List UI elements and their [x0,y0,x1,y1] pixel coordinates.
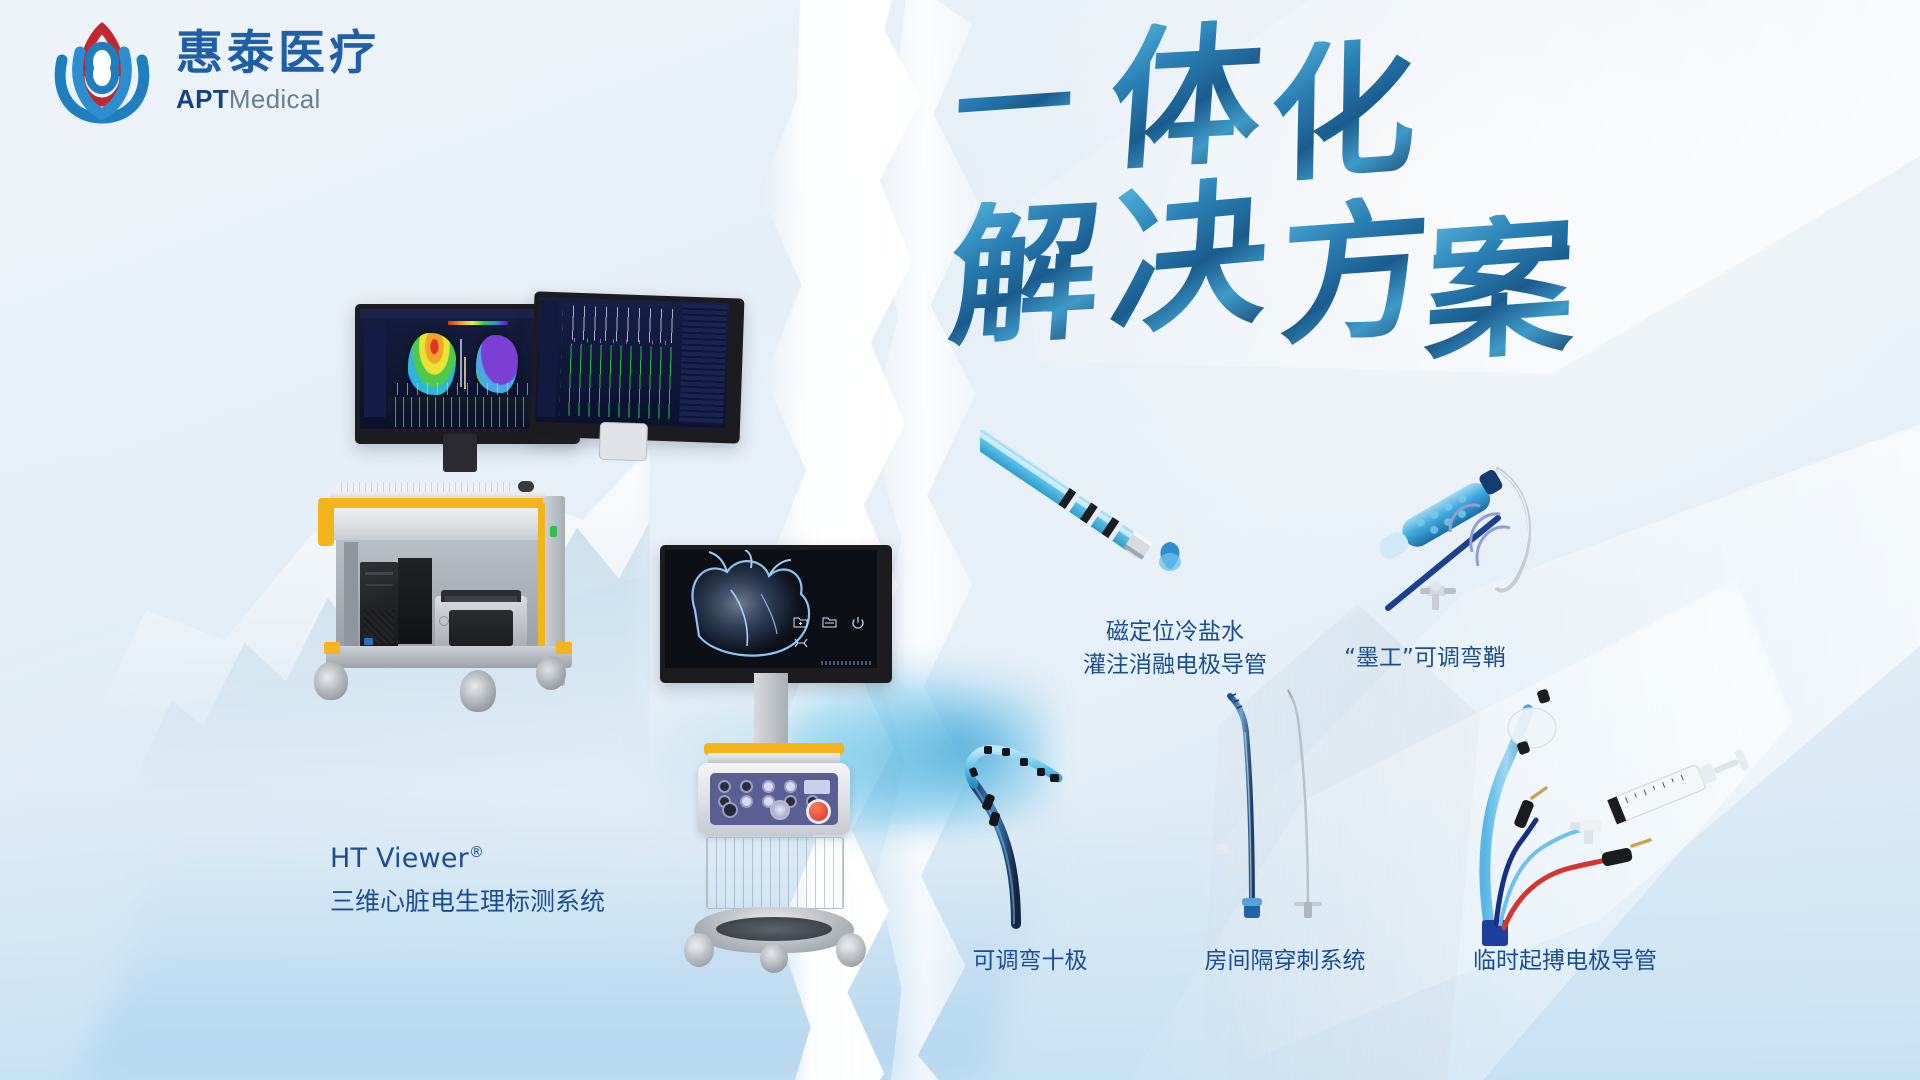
emergency-stop-button[interactable] [809,802,828,821]
patient-interface-console[interactable] [698,763,850,835]
ground-port[interactable] [722,802,738,818]
console-port[interactable] [740,795,753,808]
caster-wheel [836,933,866,967]
caster-wheel [314,662,348,700]
heart-illustration-icon [665,550,877,668]
new-study-icon[interactable] [793,616,808,634]
caster-wheel [460,670,496,712]
product-label-line1: 可调弯十极 [900,945,1160,978]
product-label-line1: 磁定位冷盐水 [1040,616,1310,649]
power-icon[interactable] [851,616,865,635]
left-monitor-stand [443,434,477,472]
caster-wheel [760,943,788,973]
system-name-en: HT Viewer® [330,840,660,878]
headline-char-6: 方 [1278,192,1433,353]
product-label-line1: 房间隔穿刺系统 [1150,945,1420,978]
caster-wheel [684,933,714,967]
right-monitor-arm [599,422,648,462]
headline-char-7: 案 [1423,209,1578,370]
brand-logo-text: 惠泰医疗 APTMedical [176,30,380,112]
product-label-transseptal: 房间隔穿刺系统 [1150,945,1420,978]
headline-char-5: 决 [1106,172,1272,345]
product-label-decapolar: 可调弯十极 [900,945,1160,978]
touchscreen-pillar [754,673,788,751]
console-port-panel [710,773,838,825]
mouse[interactable] [518,481,534,492]
right-monitor[interactable] [530,291,745,443]
poster-canvas: 惠泰医疗 APTMedical 一 体 化 解 决 方 案 [0,0,1920,1080]
printer [435,596,527,648]
heart-touchscreen-content [665,550,877,668]
right-monitor-screen [535,297,729,429]
open-folder-icon[interactable] [822,616,837,634]
brand-logo[interactable]: 惠泰医疗 APTMedical [46,18,380,124]
product-label-pacing-catheter: 临时起搏电极导管 [1420,945,1710,978]
decapolar-catheter-icon [940,710,1120,930]
brand-english-secondary: Medical [229,84,321,114]
storage-basket [706,837,844,909]
temporary-pacing-catheter-icon [1450,680,1780,950]
trademark-symbol: ® [469,843,484,861]
headline-char-4: 解 [945,196,1105,355]
headline-char-1: 一 [953,44,1075,171]
console-port[interactable] [762,780,775,793]
cart-base [326,646,572,668]
brand-chinese-name: 惠泰医疗 [176,30,380,77]
system-label: HT Viewer® 三维心脏电生理标测系统 [330,840,660,878]
workstation-pc [360,562,398,648]
console-port[interactable] [740,780,753,793]
headline-char-2: 体 [1105,18,1267,179]
product-label-line1: 临时起搏电极导管 [1420,945,1710,978]
heart-touchscreen[interactable] [660,545,892,683]
transseptal-puncture-icon [1200,670,1360,920]
console-port[interactable] [784,780,797,793]
caster-wheel [536,656,566,690]
console-status-display [804,780,830,794]
brand-english-name: APTMedical [176,86,380,112]
settings-icon[interactable] [793,636,809,654]
system-name-cn: 三维心脏电生理标测系统 [330,884,605,920]
cart-drawer[interactable] [328,508,548,540]
touchscreen-cart [650,545,900,1045]
headline-char-3: 化 [1269,35,1417,192]
steerable-sheath-icon [1380,440,1700,640]
power-indicator-led [550,526,557,537]
irrigated-ablation-catheter-icon [980,430,1200,600]
coaxial-port[interactable] [770,800,790,820]
console-port[interactable] [718,780,731,793]
headline-calligraphy: 一 体 化 解 决 方 案 [960,30,1640,360]
apt-medical-heart-logo-icon [46,18,158,124]
brand-english-primary: APT [176,84,229,114]
